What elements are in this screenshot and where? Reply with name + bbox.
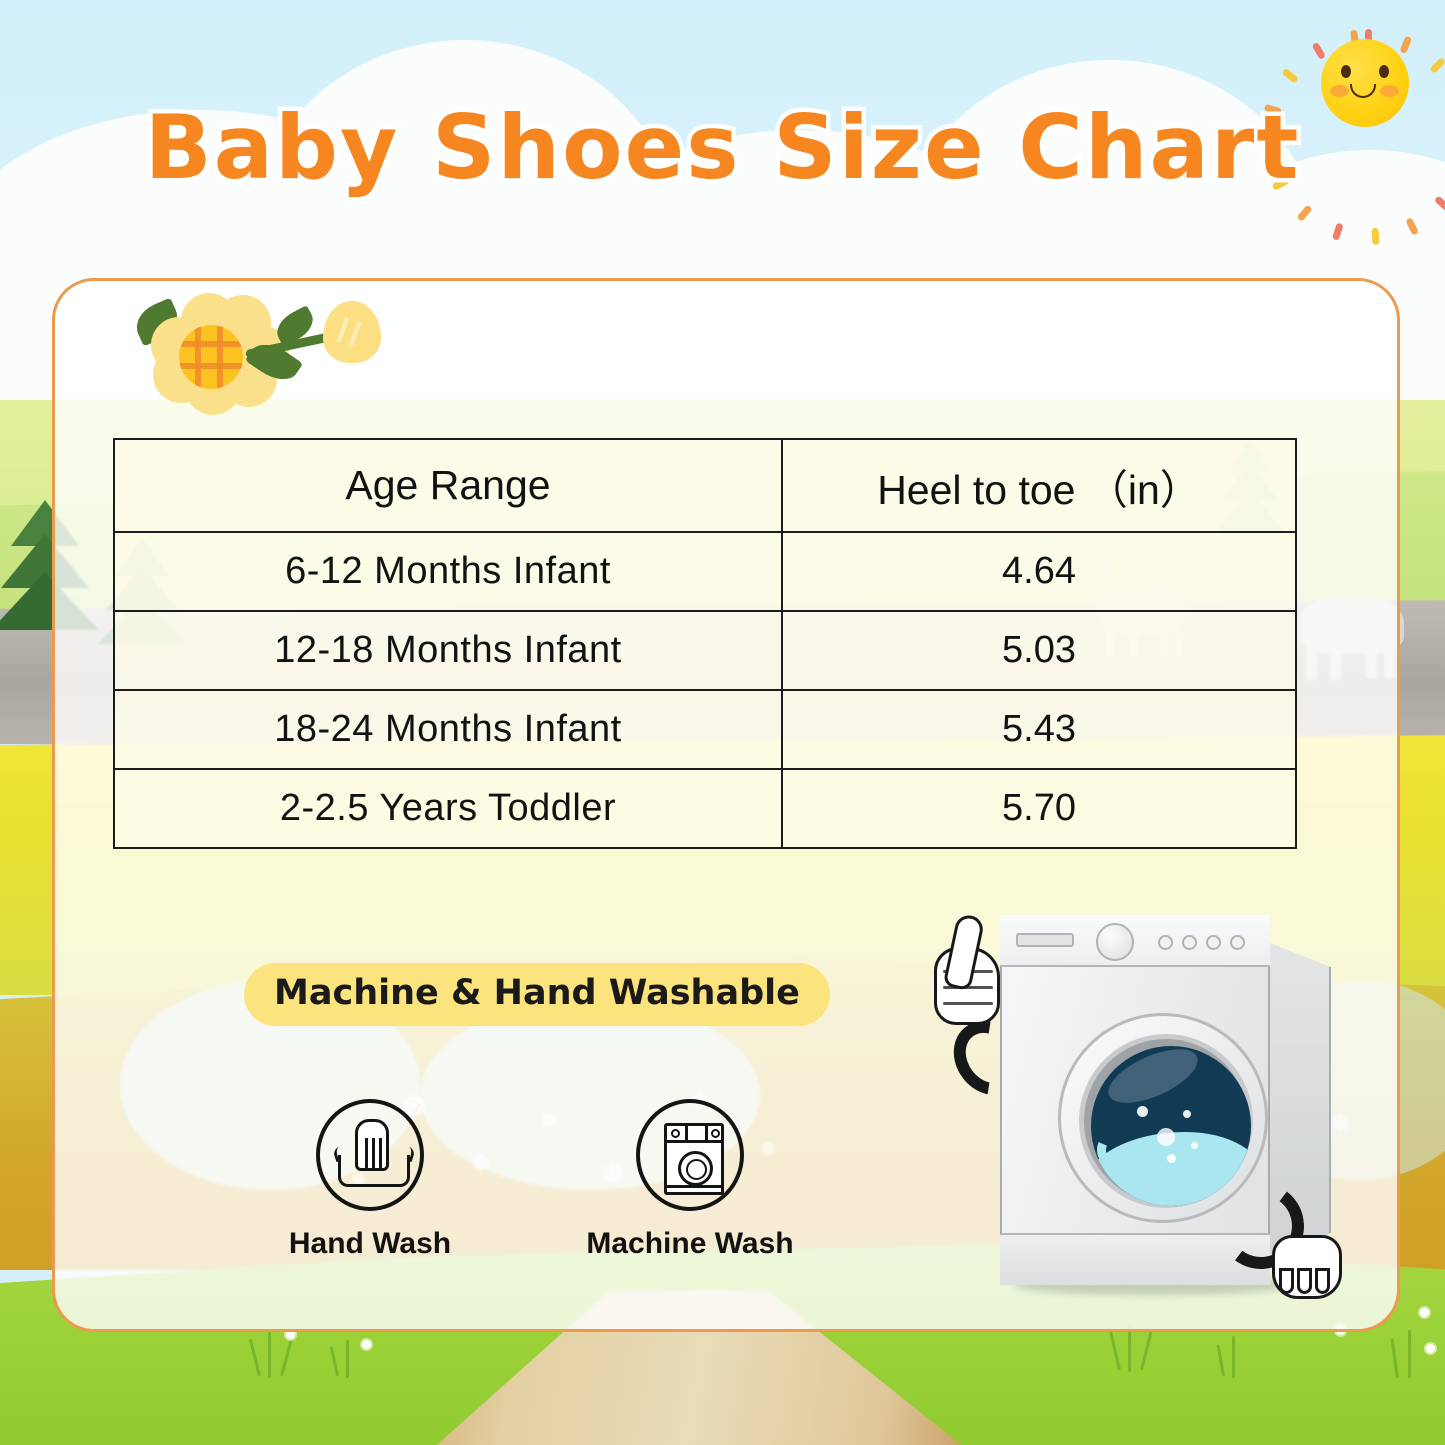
cell-heel-to-toe: 4.64 bbox=[782, 532, 1296, 611]
grass-tuft bbox=[1232, 1336, 1235, 1378]
care-label-hand-wash: Hand Wash bbox=[245, 1227, 495, 1261]
hand-wash-icon bbox=[316, 1099, 424, 1211]
status-badge-washable: Machine & Hand Washable bbox=[244, 963, 830, 1026]
washer-drum bbox=[678, 1151, 713, 1186]
tulip-bud-icon bbox=[323, 301, 381, 363]
daisy-flower bbox=[362, 1340, 371, 1349]
flower-center bbox=[179, 325, 243, 389]
daisy-flower bbox=[1420, 1308, 1429, 1317]
washing-machine-mascot-icon bbox=[900, 893, 1370, 1313]
care-label-machine-wash: Machine Wash bbox=[565, 1227, 815, 1261]
washer-control-panel bbox=[667, 1126, 721, 1143]
basin-lip-right bbox=[402, 1146, 416, 1162]
daisy-flower bbox=[1426, 1344, 1435, 1353]
cell-age-range: 12-18 Months Infant bbox=[114, 611, 782, 690]
info-card: Age Range Heel to toe （in） 6-12 Months I… bbox=[52, 278, 1400, 1332]
washer-base-line bbox=[667, 1185, 721, 1188]
grass-tuft bbox=[346, 1340, 349, 1378]
grass-tuft bbox=[1408, 1330, 1411, 1378]
care-instructions-row: Hand Wash Machine Wash bbox=[245, 1099, 865, 1295]
program-dial bbox=[1096, 923, 1134, 961]
basin-lip-left bbox=[332, 1146, 346, 1162]
care-item-hand-wash: Hand Wash bbox=[245, 1099, 495, 1261]
cell-age-range: 6-12 Months Infant bbox=[114, 532, 782, 611]
washer-outline bbox=[664, 1123, 724, 1195]
table-row: 12-18 Months Infant 5.03 bbox=[114, 611, 1296, 690]
hand-shape bbox=[355, 1119, 389, 1171]
table-row: 18-24 Months Infant 5.43 bbox=[114, 690, 1296, 769]
sunflower-icon bbox=[133, 289, 383, 404]
mascot-control-panel bbox=[1000, 915, 1270, 967]
table-row: 6-12 Months Infant 4.64 bbox=[114, 532, 1296, 611]
cell-age-range: 18-24 Months Infant bbox=[114, 690, 782, 769]
cell-heel-to-toe: 5.43 bbox=[782, 690, 1296, 769]
column-header-age-range: Age Range bbox=[114, 439, 782, 532]
mascot-right-glove-icon bbox=[1272, 1235, 1342, 1299]
grass-tuft bbox=[268, 1332, 271, 1378]
cell-heel-to-toe: 5.03 bbox=[782, 611, 1296, 690]
table-header-row: Age Range Heel to toe （in） bbox=[114, 439, 1296, 532]
column-header-heel-to-toe: Heel to toe （in） bbox=[782, 439, 1296, 532]
cell-heel-to-toe: 5.70 bbox=[782, 769, 1296, 848]
machine-wash-icon bbox=[636, 1099, 744, 1211]
table-row: 2-2.5 Years Toddler 5.70 bbox=[114, 769, 1296, 848]
door-ring bbox=[1079, 1034, 1253, 1208]
detergent-tray bbox=[1016, 933, 1074, 947]
glass-reflection bbox=[1101, 1046, 1205, 1114]
page-title: Baby Shoes Size Chart bbox=[0, 96, 1445, 199]
cell-age-range: 2-2.5 Years Toddler bbox=[114, 769, 782, 848]
door-glass bbox=[1091, 1046, 1251, 1206]
care-item-machine-wash: Machine Wash bbox=[565, 1099, 815, 1261]
size-chart-table: Age Range Heel to toe （in） 6-12 Months I… bbox=[113, 438, 1297, 849]
